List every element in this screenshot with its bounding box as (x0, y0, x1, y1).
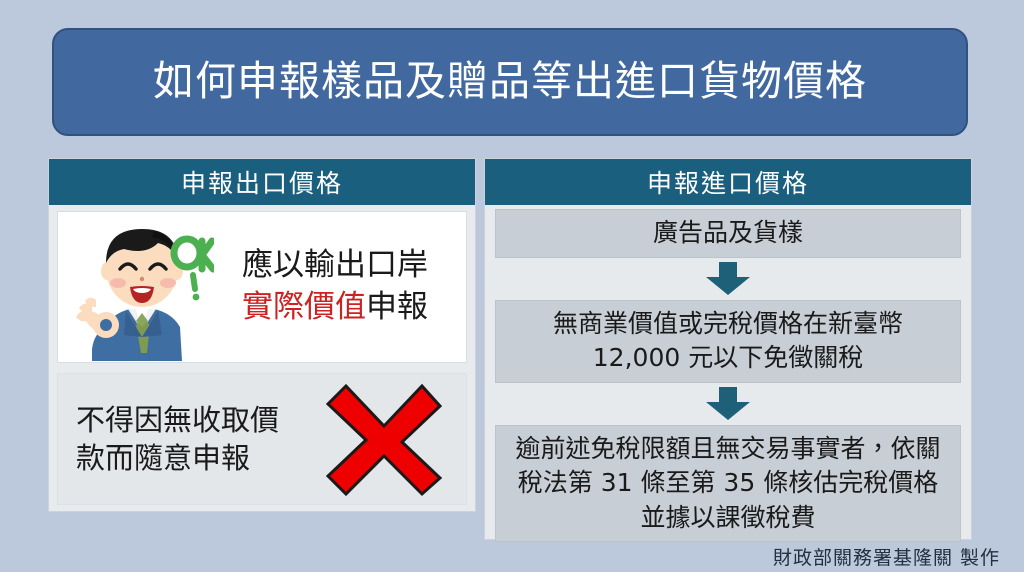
arrow-down-icon (705, 262, 751, 296)
infographic-slide: 如何申報樣品及贈品等出進口貨物價格 申報出口價格 (0, 0, 1024, 572)
flow-arrow-1 (495, 258, 961, 300)
export-price-column: 申報出口價格 (48, 158, 476, 512)
export-ok-emphasis: 實際價值 (242, 289, 366, 325)
import-flow-chart: 廣告品及貨樣 無商業價值或完稅價格在新臺幣 12,000 元以下免徵關稅 逾前述… (485, 205, 971, 552)
export-prohibition-card: 不得因無收取價 款而隨意申報 (57, 373, 467, 505)
export-ok-line1: 應以輸出口岸 (214, 245, 456, 287)
ok-gesture-businessman-illustration (62, 213, 214, 361)
flow-step-1: 廣告品及貨樣 (495, 209, 961, 258)
import-column-header: 申報進口價格 (485, 159, 971, 205)
red-x-mark-icon (322, 380, 446, 498)
title-banner: 如何申報樣品及贈品等出進口貨物價格 (52, 28, 968, 136)
export-ok-line2: 實際價值申報 (214, 287, 456, 329)
flow-step-2: 無商業價值或完稅價格在新臺幣 12,000 元以下免徵關稅 (495, 300, 961, 383)
export-ok-card: 應以輸出口岸 實際價值申報 (57, 211, 467, 363)
flow-arrow-2 (495, 383, 961, 425)
arrow-down-icon (705, 387, 751, 421)
footer-credit: 財政部關務署基隆關 製作 (773, 543, 1000, 570)
page-title: 如何申報樣品及贈品等出進口貨物價格 (153, 59, 867, 104)
export-prohibition-text: 不得因無收取價 款而隨意申報 (76, 401, 279, 478)
flow-step-3: 逾前述免稅限額且無交易事實者，依關稅法第 31 條至第 35 條核估完稅價格並據… (495, 425, 961, 543)
export-column-header: 申報出口價格 (49, 159, 475, 205)
export-ok-line2-rest: 申報 (366, 289, 428, 325)
export-ok-text: 應以輸出口岸 實際價值申報 (214, 245, 466, 329)
import-price-column: 申報進口價格 廣告品及貨樣 無商業價值或完稅價格在新臺幣 12,000 元以下免… (484, 158, 972, 540)
export-column-body: 應以輸出口岸 實際價值申報 不得因無收取價 款而隨意申報 (49, 205, 475, 513)
